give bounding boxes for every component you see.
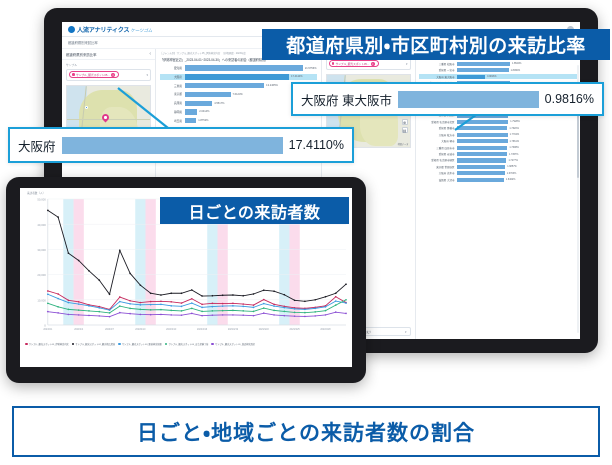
bar-row[interactable]: 三重県 四日市市1.7608% (419, 145, 578, 150)
line-point (191, 308, 193, 310)
callout-city-bar (398, 91, 539, 108)
bar-row-track: 1.8060% (457, 68, 577, 72)
bar-row[interactable]: 埼玉県1.8752% (160, 118, 317, 124)
line-point (160, 314, 162, 316)
line-point (140, 314, 142, 316)
chevron-down-icon[interactable]: ▾ (146, 73, 148, 77)
line-point (273, 303, 275, 305)
bar-row-track: 1.7457% (457, 152, 577, 156)
target-icon[interactable]: ⊕ (402, 119, 408, 125)
filter-chip-label: サンプル_観光スポット05... (76, 73, 110, 77)
bar-row[interactable]: 三重県 松阪市1.8520% (419, 61, 578, 66)
bar-row-label: 滋賀県 大津市 (419, 178, 455, 182)
bar-row-fill (457, 158, 506, 162)
bar-row-value: 1.6402% (506, 178, 515, 181)
weekend-band (63, 199, 73, 325)
side-panel-title-text: 都道府県別来訪比率 (66, 52, 97, 57)
weekend-band (74, 199, 84, 325)
line-point (129, 272, 131, 274)
bar-row-label: 愛知県 一宮市 (419, 68, 455, 72)
line-point (47, 209, 49, 211)
bar-row-fill (185, 83, 264, 88)
x-tick-label: 2023/4/4 (74, 329, 84, 331)
line-point (119, 250, 121, 252)
line-point (98, 311, 100, 313)
x-tick-label: 2023/4/19 (228, 329, 239, 331)
bar-row-value: 1.7277% (508, 159, 517, 162)
y-tick-label: 40,000 (37, 223, 46, 227)
chevron-down-icon[interactable]: ▾ (406, 62, 408, 66)
side-panel-title-left: 都道府県別来訪比率 ‹ (62, 49, 155, 60)
line-point (170, 314, 172, 316)
filter-chip[interactable]: サンプル_観光スポット05... × (329, 60, 379, 67)
bar-row-label: 大阪府 堺市 (419, 139, 455, 143)
line-point (294, 308, 296, 310)
bar-row-value: 1.8752% (198, 119, 208, 122)
line-point (263, 303, 265, 305)
logo-main-text: 人流アナリティクス (77, 25, 129, 34)
line-point (222, 294, 224, 296)
line-point (68, 252, 70, 254)
banner-middle: 日ごとの来訪者数 (160, 197, 349, 224)
line-point (263, 289, 265, 291)
legend-item[interactable]: サンプル_観光スポット03_駅前神宮前駅 (118, 342, 162, 346)
line-point (47, 302, 49, 304)
line-point (253, 304, 255, 306)
line-point (212, 306, 214, 308)
line-point (140, 302, 142, 304)
legend-color-dot (25, 343, 28, 346)
line-point (345, 313, 347, 315)
bar-row[interactable]: 大阪府 茨木市1.6703% (419, 171, 578, 176)
bar-row-track: 1.7704% (457, 133, 577, 137)
line-point (335, 292, 337, 294)
line-point (191, 289, 193, 291)
line-point (150, 304, 152, 306)
bar-row-value: 4.5517% (214, 102, 224, 105)
bar-row-value: 1.7620% (509, 127, 518, 130)
bar-row-fill (185, 101, 212, 106)
line-point (88, 310, 90, 312)
legend-item[interactable]: サンプル_観光スポット05_伊勢神宮内宮 (25, 342, 69, 346)
line-point (170, 305, 172, 307)
bar-row-fill (185, 74, 289, 79)
line-point (191, 302, 193, 304)
line-point (119, 301, 121, 303)
line-point (212, 302, 214, 304)
line-point (119, 305, 121, 307)
bar-row-fill (185, 109, 197, 114)
bar-row-fill (457, 165, 505, 169)
y-tick-label: 0 (44, 324, 46, 328)
line-point (181, 310, 183, 312)
line-point (78, 260, 80, 262)
line-point (253, 293, 255, 295)
line-point (140, 304, 142, 306)
line-point (68, 299, 70, 301)
x-tick-label: 2023/4/10 (135, 329, 146, 331)
line-point (222, 305, 224, 307)
line-point (78, 301, 80, 303)
chip-dot-icon (72, 73, 75, 76)
line-point (325, 306, 327, 308)
bar-row[interactable]: 大阪府 堺市1.7661% (419, 139, 578, 144)
y-tick-label: 20,000 (37, 273, 46, 277)
line-point (212, 310, 214, 312)
line-point (325, 296, 327, 298)
callout-city: 大阪府 東大阪市 0.9816% (291, 82, 604, 116)
bar-row-label: 東京都 世田谷区 (419, 165, 455, 169)
line-point (283, 311, 285, 313)
bar-row-fill (457, 120, 508, 124)
filter-chip[interactable]: サンプル_観光スポット05... × (69, 71, 119, 78)
bar-row-fill (185, 92, 231, 97)
map-pin-icon[interactable] (102, 114, 109, 124)
line-point (181, 292, 183, 294)
bar-row-value: 1.7928% (510, 120, 519, 123)
bar-row-label: 愛知県 名古屋市緑区 (419, 158, 455, 162)
line-point (170, 292, 172, 294)
bar-row-label: 大阪府 東大阪市 (419, 75, 455, 79)
line-point (273, 290, 275, 292)
bar-row-track: 1.7661% (457, 139, 577, 143)
line-point (201, 315, 203, 317)
line-point (98, 279, 100, 281)
y-tick-label: 10,000 (37, 298, 46, 302)
bar-row-track: 1.7928% (457, 120, 577, 124)
breadcrumb-text: 都道府県別来訪比率 (68, 40, 98, 45)
line-point (129, 313, 131, 315)
line-point (232, 302, 234, 304)
bar-row-label: 愛知県 (160, 66, 182, 70)
legend-label: サンプル_観光スポット05_伊勢神宮内宮 (29, 342, 69, 346)
line-point (57, 312, 59, 314)
line-point (119, 312, 121, 314)
line-point (201, 311, 203, 313)
line-point (160, 294, 162, 296)
line-point (242, 310, 244, 312)
bar-row[interactable]: 愛知県 名古屋市緑区1.7277% (419, 158, 578, 163)
bar-row[interactable]: 愛知県 豊橋市1.7620% (419, 126, 578, 131)
bar-row-value: 17.4110% (291, 75, 303, 78)
bar-row[interactable]: 愛知県 安城市1.7457% (419, 151, 578, 156)
line-point (201, 303, 203, 305)
bar-row-track: 1.7620% (457, 126, 577, 130)
chevron-left-icon[interactable]: ‹ (149, 52, 151, 57)
line-point (242, 295, 244, 297)
bar-row-fill (457, 75, 485, 79)
line-point (57, 306, 59, 308)
filter-label: サンプル (66, 63, 151, 67)
line-point (294, 312, 296, 314)
line-point (150, 292, 152, 294)
bar-row-fill (457, 178, 504, 182)
bar-row-label: 大阪府 茨木市 (419, 171, 455, 175)
line-point (47, 290, 49, 292)
bar-row-value: 7.6123% (233, 93, 243, 96)
line-point (253, 315, 255, 317)
line-point (263, 312, 265, 314)
line-point (160, 303, 162, 305)
logo-mark-icon (68, 26, 75, 33)
legend-item[interactable]: サンプル_観光スポット01_商店神宮周辺 (211, 342, 255, 346)
bar-row-label: 三重県 松阪市 (419, 62, 455, 66)
line-point (140, 284, 142, 286)
line-point (335, 296, 337, 298)
line-point (170, 301, 172, 303)
line-point (263, 299, 265, 301)
bar-row-track: 1.6857% (457, 165, 577, 169)
bar-row-label: 埼玉県 (160, 119, 182, 123)
bar-row-value: 21.5756% (305, 67, 317, 70)
legend-label: サンプル_観光スポット04_お土産横丁前 (169, 342, 209, 346)
line-point (129, 303, 131, 305)
bar-row[interactable]: 滋賀県 大津市1.6402% (419, 177, 578, 182)
callout-prefecture-bar (62, 137, 283, 154)
bar-row-label: 愛知県 安城市 (419, 152, 455, 156)
bar-row-track: 21.5756% (185, 65, 317, 70)
logo-sub-text: ケーツゴム (130, 28, 152, 34)
line-point (88, 270, 90, 272)
line-point (68, 309, 70, 311)
close-icon[interactable]: × (371, 62, 375, 66)
line-point (150, 314, 152, 316)
line-point (222, 310, 224, 312)
bar-row[interactable]: 大阪府 東大阪市0.9816% (419, 74, 578, 79)
line-point (314, 308, 316, 310)
line-point (314, 315, 316, 317)
bar-row-track: 1.8520% (457, 62, 577, 66)
bar-row-value: 1.6857% (507, 165, 516, 168)
line-point (304, 300, 306, 302)
line-point (273, 310, 275, 312)
line-point (109, 316, 111, 318)
bar-row-track: 0.9816% (457, 75, 577, 79)
bar-chart-municipality: 三重県 伊勢市2.4500%三重県 松阪市1.8520%愛知県 一宮市1.806… (416, 55, 581, 183)
bar-row-value: 1.8060% (511, 69, 520, 72)
weekend-band (146, 199, 156, 325)
line-point (68, 314, 70, 316)
line-point (242, 306, 244, 308)
legend-label: サンプル_観光スポット02_観光地広場前 (75, 342, 115, 346)
line-point (160, 300, 162, 302)
bar-row-value: 2.0414% (199, 110, 209, 113)
bar-row-value: 1.8520% (512, 62, 521, 65)
bar-row[interactable]: 愛知県 名古屋市北区1.7928% (419, 119, 578, 124)
line-point (232, 305, 234, 307)
line-point (68, 302, 70, 304)
line-point (283, 307, 285, 309)
bar-row-fill (185, 65, 303, 70)
bar-row-label: 東京都 (160, 92, 182, 96)
line-point (98, 315, 100, 317)
line-point (201, 307, 203, 309)
filter-block-left: サンプル サンプル_観光スポット05... × ▾ (62, 60, 155, 83)
line-point (140, 309, 142, 311)
line-point (109, 293, 111, 295)
bar-row-fill (457, 133, 508, 137)
line-point (129, 308, 131, 310)
line-point (325, 314, 327, 316)
line-point (263, 307, 265, 309)
line-point (119, 296, 121, 298)
close-icon[interactable]: × (111, 73, 115, 77)
bar-row-value: 0.9816% (487, 75, 496, 78)
bar-row-fill (457, 152, 507, 156)
bar-row-track: 1.8752% (185, 118, 317, 123)
bar-row-track: 1.6402% (457, 178, 577, 182)
line-point (78, 309, 80, 311)
y-tick-label: 30,000 (37, 248, 46, 252)
x-tick-label: 2023/4/7 (105, 329, 115, 331)
weekend-band (135, 199, 145, 325)
line-point (345, 299, 347, 301)
line-point (345, 283, 347, 285)
line-point (283, 315, 285, 317)
bar-row-label: 兵庫県 (160, 101, 182, 105)
bar-row-label: 愛知県 名古屋市北区 (419, 120, 455, 124)
line-point (304, 316, 306, 318)
line-point (57, 298, 59, 300)
legend-color-dot (211, 343, 214, 346)
legend-item[interactable]: サンプル_観光スポット02_観光地広場前 (72, 342, 116, 346)
bar-row-label: 三重県 四日市市 (419, 146, 455, 150)
line-point (109, 309, 111, 311)
line-point (335, 300, 337, 302)
line-point (160, 309, 162, 311)
bar-row-value: 1.7457% (509, 153, 518, 156)
line-point (294, 315, 296, 317)
line-point (47, 311, 49, 313)
map-marker-dot[interactable] (85, 106, 88, 109)
legend-item[interactable]: サンプル_観光スポット04_お土産横丁前 (165, 342, 209, 346)
line-point (283, 294, 285, 296)
banner-top: 都道府県別・市区町村別の来訪比率 (262, 29, 610, 60)
bar-row[interactable]: 愛知県21.5756% (160, 65, 317, 71)
line-point (294, 299, 296, 301)
bar-row-fill (185, 118, 196, 123)
line-point (98, 307, 100, 309)
line-chart-legend: サンプル_観光スポット05_伊勢神宮内宮サンプル_観光スポット02_観光地広場前… (22, 341, 350, 346)
line-point (232, 314, 234, 316)
line-point (181, 302, 183, 304)
bar-row[interactable]: 愛知県 一宮市1.8060% (419, 68, 578, 73)
bar-row-fill (457, 62, 510, 66)
line-point (78, 314, 80, 316)
bar-row-track: 1.7277% (457, 158, 577, 162)
line-point (57, 293, 59, 295)
bar-row-label: 大阪府 枚方市 (419, 133, 455, 137)
line-point (88, 315, 90, 317)
bar-row-label: 大阪府 (160, 75, 182, 79)
callout-city-label: 大阪府 東大阪市 (301, 90, 392, 109)
line-point (253, 311, 255, 313)
filter-chip-row[interactable]: サンプル_観光スポット05... × ▾ (66, 69, 151, 81)
line-point (212, 295, 214, 297)
line-point (314, 311, 316, 313)
line-point (304, 312, 306, 314)
line-point (170, 310, 172, 312)
line-point (304, 309, 306, 311)
banner-bottom: 日ごと・地域ごとの来訪者数の割合 (12, 406, 600, 457)
bar-row-track: 17.4110% (185, 74, 317, 79)
line-point (222, 303, 224, 305)
bar-row-value: 1.6703% (507, 172, 516, 175)
map-attribution: 地図データ (398, 142, 409, 146)
layers-icon[interactable]: ▤ (402, 127, 408, 133)
screenshot-root: 人流アナリティクス ケーツゴム 都道府県別来訪比率 都道府県別来訪比率 ‹ (0, 0, 612, 465)
bar-row-fill (457, 171, 505, 175)
line-point (253, 307, 255, 309)
line-point (325, 310, 327, 312)
bar-row[interactable]: 東京都 世田谷区1.6857% (419, 164, 578, 169)
x-tick-label: 2023/4/28 (320, 329, 331, 331)
x-tick-label: 2023/4/22 (259, 329, 270, 331)
bar-row[interactable]: 大阪府17.4110% (160, 74, 317, 80)
app-logo: 人流アナリティクス ケーツゴム (68, 25, 152, 34)
filter-chip-label: サンプル_観光スポット05... (336, 62, 370, 66)
bar-row-fill (457, 126, 507, 130)
line-point (314, 299, 316, 301)
line-point (273, 314, 275, 316)
x-tick-label: 2023/4/25 (290, 329, 301, 331)
line-point (222, 314, 224, 316)
bar-row-fill (457, 146, 507, 150)
line-point (212, 314, 214, 316)
line-point (191, 298, 193, 300)
legend-color-dot (118, 343, 121, 346)
legend-label: サンプル_観光スポット01_商店神宮周辺 (215, 342, 255, 346)
x-tick-label: 2023/4/13 (166, 329, 177, 331)
y-tick-label: 50,000 (37, 198, 46, 202)
bar-row[interactable]: 大阪府 枚方市1.7704% (419, 132, 578, 137)
x-tick-label: 2023/4/16 (197, 329, 208, 331)
bar-row-value: 13.2465% (266, 84, 278, 87)
line-point (181, 314, 183, 316)
line-point (181, 306, 183, 308)
bar-row-track: 1.6703% (457, 171, 577, 175)
bar-row-fill (457, 139, 508, 143)
callout-city-value: 0.9816% (545, 92, 594, 106)
line-point (335, 311, 337, 313)
line-point (345, 302, 347, 304)
bar-row-label: 三重県 (160, 84, 182, 88)
line-point (232, 294, 234, 296)
x-tick-label: 2023/4/1 (43, 329, 53, 331)
line-point (191, 313, 193, 315)
line-point (88, 305, 90, 307)
line-point (150, 309, 152, 311)
line-point (232, 310, 234, 312)
line-point (150, 301, 152, 303)
callout-prefecture: 大阪府 17.4110% (8, 127, 354, 163)
line-point (335, 304, 337, 306)
bar-row-label: 静岡県 (160, 110, 182, 114)
chip-dot-icon (332, 62, 335, 65)
bar-row-fill (457, 68, 509, 72)
line-point (78, 303, 80, 305)
legend-color-dot (72, 343, 75, 346)
line-point (242, 303, 244, 305)
line-point (273, 305, 275, 307)
line-point (129, 300, 131, 302)
legend-label: サンプル_観光スポット03_駅前神宮前駅 (122, 342, 162, 346)
bar-row-value: 1.7661% (510, 140, 519, 143)
chevron-down-icon[interactable]: ▾ (405, 330, 407, 334)
line-point (47, 293, 49, 295)
line-point (201, 295, 203, 297)
line-point (242, 314, 244, 316)
